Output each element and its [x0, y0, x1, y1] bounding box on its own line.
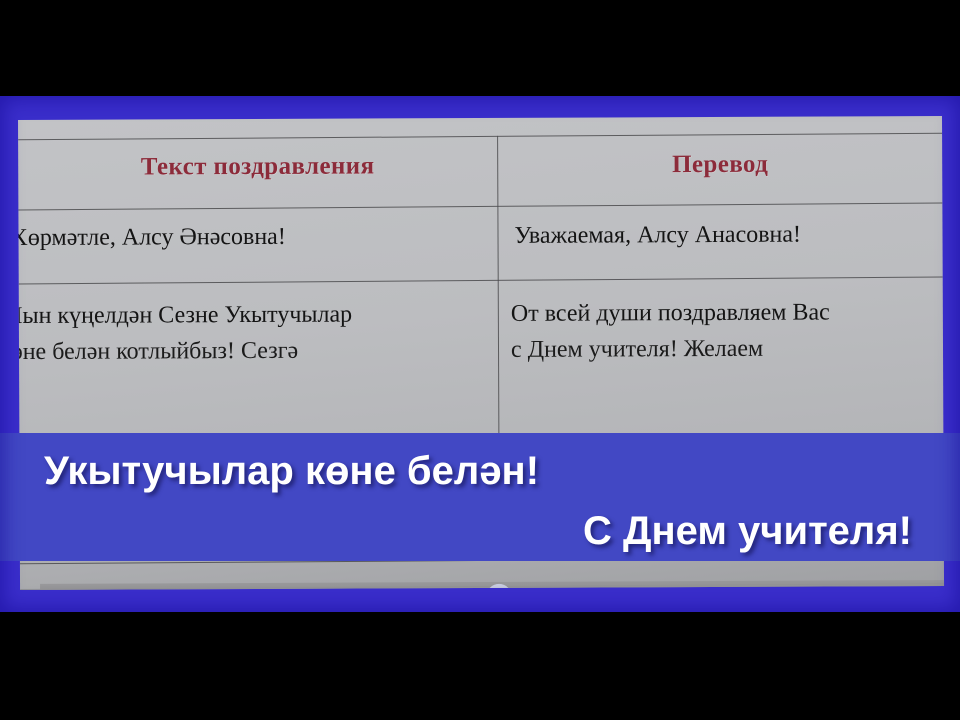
table-rule-header-bottom — [18, 203, 942, 211]
table-header-right: Перевод — [498, 150, 942, 192]
video-frame: Текст поздравления Перевод Хөрмәтле, Алс… — [0, 96, 960, 612]
greeting-overlay-banner: Укытучылар көне белән! С Днем учителя! — [0, 433, 960, 561]
screenshot-stage: Текст поздравления Перевод Хөрмәтле, Алс… — [0, 0, 960, 720]
greeting-text-russian: С Днем учителя! — [583, 509, 912, 554]
table-cell-row2-right: От всей души поздравляем Вас — [511, 294, 830, 331]
letterbox-bottom — [0, 612, 960, 720]
table-rule-top — [18, 133, 942, 140]
greeting-text-tatar: Укытучылар көне белән! — [44, 449, 539, 494]
table-rule-row1-bottom — [19, 277, 943, 285]
table-cell-row1-right: Уважаемая, Алсу Анасовна! — [514, 217, 801, 254]
table-cell-row2-right-continued: с Днем учителя! Желаем — [511, 331, 763, 368]
table-cell-row2-left-continued: көне белән котлыйбыз! Сезгә — [18, 333, 298, 370]
letterbox-top — [0, 0, 960, 96]
table-cell-row2-left: Чын күңелдән Сезне Укытучылар — [18, 297, 352, 335]
table-header-left: Текст поздравления — [18, 152, 497, 194]
table-cell-row1-left: Хөрмәтле, Алсу Әнәсовна! — [18, 219, 286, 256]
